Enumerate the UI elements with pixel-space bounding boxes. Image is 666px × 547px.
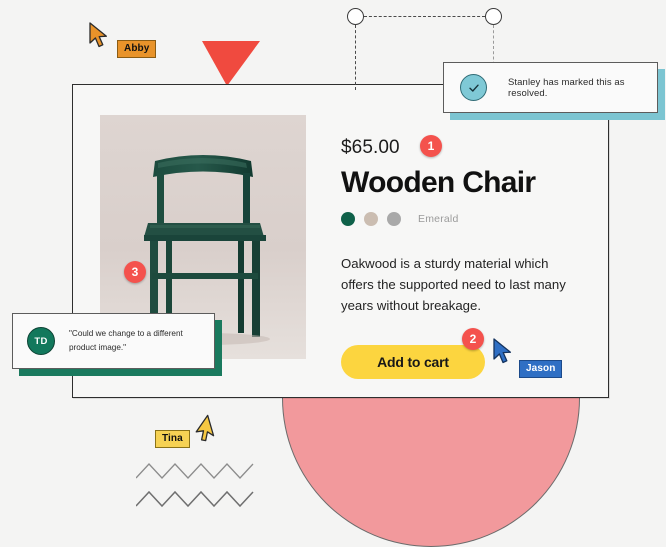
- cursor-label-abby: Abby: [117, 40, 156, 58]
- selection-handle-right[interactable]: [485, 8, 502, 25]
- annotation-badge-1[interactable]: 1: [420, 135, 442, 157]
- pink-semicircle-shape[interactable]: [282, 398, 580, 547]
- zigzag-lines-shape[interactable]: [136, 462, 260, 513]
- color-swatch-taupe[interactable]: [364, 212, 378, 226]
- toast-body: Stanley has marked this as resolved.: [443, 62, 658, 113]
- comment-body: TD "Could we change to a different produ…: [12, 313, 215, 369]
- cursor-pointer-icon: [88, 22, 110, 50]
- comment-card[interactable]: TD "Could we change to a different produ…: [12, 313, 215, 369]
- cursor-jason[interactable]: Jason: [492, 338, 514, 371]
- toast-message: Stanley has marked this as resolved.: [508, 77, 657, 99]
- product-description: Oakwood is a sturdy material which offer…: [341, 253, 581, 317]
- product-title: Wooden Chair: [341, 167, 608, 199]
- product-info: $65.00 Wooden Chair Emerald Oakwood is a…: [306, 85, 608, 397]
- selection-handle-left[interactable]: [347, 8, 364, 25]
- annotation-badge-3[interactable]: 3: [124, 261, 146, 283]
- cursor-pointer-icon: [192, 413, 227, 448]
- color-swatch-grey[interactable]: [387, 212, 401, 226]
- check-circle-icon: [460, 74, 487, 101]
- add-to-cart-button[interactable]: Add to cart: [341, 345, 485, 379]
- cursor-pointer-icon: [492, 338, 514, 366]
- cursor-abby[interactable]: Abby: [88, 22, 110, 55]
- color-swatch-row[interactable]: Emerald: [341, 212, 608, 226]
- design-canvas: $65.00 Wooden Chair Emerald Oakwood is a…: [0, 0, 666, 526]
- red-triangle-shape[interactable]: [202, 41, 260, 86]
- resolved-toast[interactable]: Stanley has marked this as resolved.: [443, 62, 658, 113]
- cursor-label-tina: Tina: [155, 430, 190, 448]
- leader-line-horizontal: [364, 16, 485, 17]
- product-price: $65.00: [341, 137, 400, 159]
- avatar[interactable]: TD: [27, 327, 55, 355]
- selected-color-label: Emerald: [418, 213, 459, 225]
- cursor-label-jason: Jason: [519, 360, 562, 378]
- cursor-tina[interactable]: Tina: [197, 418, 221, 449]
- color-swatch-emerald[interactable]: [341, 212, 355, 226]
- leader-line-left: [355, 25, 356, 90]
- annotation-badge-2[interactable]: 2: [462, 328, 484, 350]
- comment-text: "Could we change to a different product …: [69, 327, 197, 354]
